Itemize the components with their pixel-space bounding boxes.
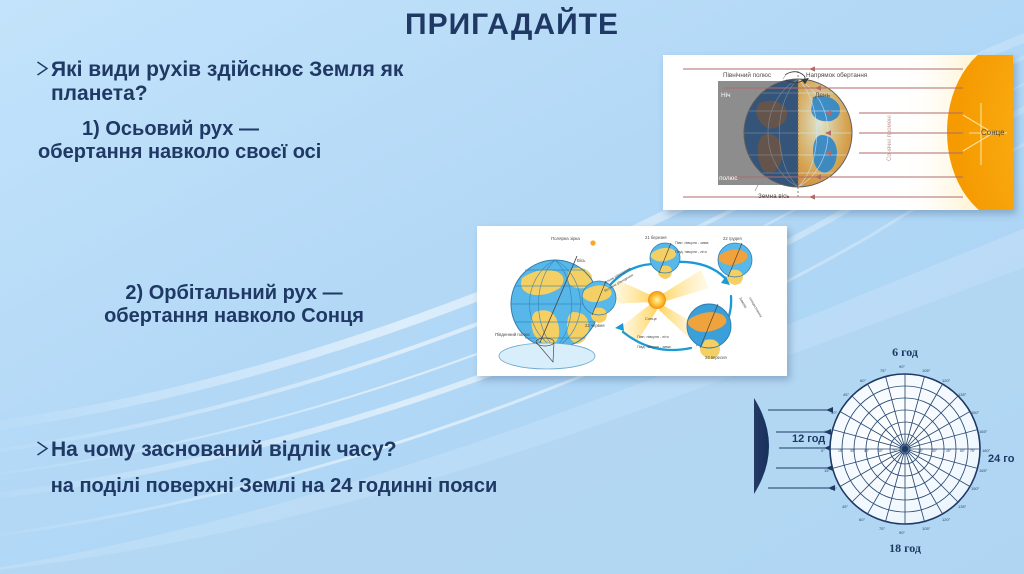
svg-text:90°: 90°: [899, 364, 905, 369]
svg-text:45°: 45°: [864, 449, 870, 453]
svg-text:75°: 75°: [880, 368, 886, 373]
figure-earth-orbit: Полярна зірка Вісь Південний полюс Сонце: [477, 226, 787, 376]
svg-text:23 вересня: 23 вересня: [705, 355, 727, 360]
svg-text:Сонце: Сонце: [645, 316, 658, 321]
answer-1-line-1: 1) Осьовий рух —: [82, 118, 444, 141]
svg-text:45°: 45°: [842, 504, 848, 509]
svg-text:День: День: [815, 92, 831, 99]
svg-text:Земна вісь: Земна вісь: [758, 192, 790, 200]
svg-text:22 червня: 22 червня: [585, 323, 604, 328]
svg-text:60°: 60°: [860, 378, 866, 383]
question-2-text: На чому заснований відлік часу?: [51, 438, 397, 462]
figure-time-zones: 90° 75° 60° 45° 30° 15° 0° 15° 30° 45° 6…: [752, 338, 1014, 570]
svg-text:Вісь: Вісь: [577, 258, 586, 263]
svg-text:15°: 15°: [824, 468, 830, 473]
timezone-label-12: 12 год: [792, 433, 825, 445]
answer-2-line-1: 2) Орбітальний рух —: [24, 282, 444, 305]
svg-text:165°: 165°: [979, 429, 988, 434]
answer-3: на поділі поверхні Землі на 24 годинні п…: [24, 475, 524, 498]
svg-text:150°: 150°: [971, 410, 980, 415]
svg-text:Сонячні промені: Сонячні промені: [887, 115, 893, 161]
svg-text:135°: 135°: [958, 504, 967, 509]
question-1: Які види рухів здійснює Земля як планета…: [36, 58, 466, 106]
svg-text:Північний полюс: Північний полюс: [723, 71, 771, 79]
svg-text:60°: 60°: [960, 449, 966, 453]
svg-text:120°: 120°: [942, 378, 951, 383]
svg-text:30°: 30°: [850, 449, 856, 453]
svg-text:Півн. півкуля - зима: Півн. півкуля - зима: [675, 241, 709, 245]
bullet-arrow-icon: [36, 61, 49, 76]
question-2: На чому заснований відлік часу?: [36, 438, 506, 462]
svg-text:Півд. півкуля - літо: Півд. півкуля - літо: [675, 250, 707, 254]
svg-text:Ніч: Ніч: [721, 91, 731, 99]
question-1-text: Які види рухів здійснює Земля як планета…: [51, 58, 466, 106]
svg-text:15°: 15°: [838, 449, 844, 453]
svg-text:30°: 30°: [831, 410, 837, 415]
svg-text:135°: 135°: [958, 392, 967, 397]
svg-text:0°: 0°: [821, 448, 825, 453]
timezone-label-18: 18 год: [889, 541, 921, 555]
svg-text:22 грудня: 22 грудня: [723, 236, 742, 241]
svg-text:21 березня: 21 березня: [645, 235, 667, 240]
answer-2: 2) Орбітальний рух — обертання навколо С…: [24, 282, 444, 328]
slide-canvas: ПРИГАДАЙТЕ Які види рухів здійснює Земля…: [0, 0, 1024, 574]
svg-text:75°: 75°: [879, 526, 885, 531]
svg-text:45°: 45°: [946, 449, 952, 453]
svg-text:120°: 120°: [942, 517, 951, 522]
svg-text:105°: 105°: [922, 526, 931, 531]
svg-text:75°: 75°: [970, 449, 976, 453]
svg-text:Сонце: Сонце: [981, 128, 1005, 137]
svg-text:30°: 30°: [831, 486, 837, 491]
answer-1-line-2: обертання навколо своєї осі: [38, 141, 444, 164]
answer-1: 1) Осьовий рух — обертання навколо своєї…: [24, 118, 444, 164]
svg-text:60°: 60°: [859, 517, 865, 522]
timezone-label-6: 6 год: [892, 345, 918, 359]
svg-text:60°: 60°: [878, 449, 884, 453]
bullet-arrow-icon-2: [36, 441, 49, 456]
svg-text:15°: 15°: [918, 449, 924, 453]
svg-text:30°: 30°: [932, 449, 938, 453]
svg-text:Полярна зірка: Полярна зірка: [551, 236, 580, 241]
svg-text:Південний полюс: Південний полюс: [495, 332, 531, 337]
svg-text:90°: 90°: [899, 530, 905, 535]
svg-text:Півд. півкуля - зима: Півд. півкуля - зима: [637, 345, 671, 349]
answer-2-line-2: обертання навколо Сонця: [24, 305, 444, 328]
svg-text:Напрямок обертання: Напрямок обертання: [806, 71, 867, 79]
svg-text:Південний полюс: Південний полюс: [687, 174, 737, 182]
svg-text:105°: 105°: [922, 368, 931, 373]
figure-earth-rotation: Сонце: [663, 55, 1013, 210]
svg-text:Півн. півкуля - літо: Півн. півкуля - літо: [637, 335, 669, 339]
svg-text:75°: 75°: [892, 449, 898, 453]
svg-text:150°: 150°: [971, 486, 980, 491]
timezone-label-24: 24 год: [988, 453, 1014, 465]
svg-text:45°: 45°: [843, 392, 849, 397]
page-title: ПРИГАДАЙТЕ: [0, 8, 1024, 42]
svg-text:165°: 165°: [979, 468, 988, 473]
